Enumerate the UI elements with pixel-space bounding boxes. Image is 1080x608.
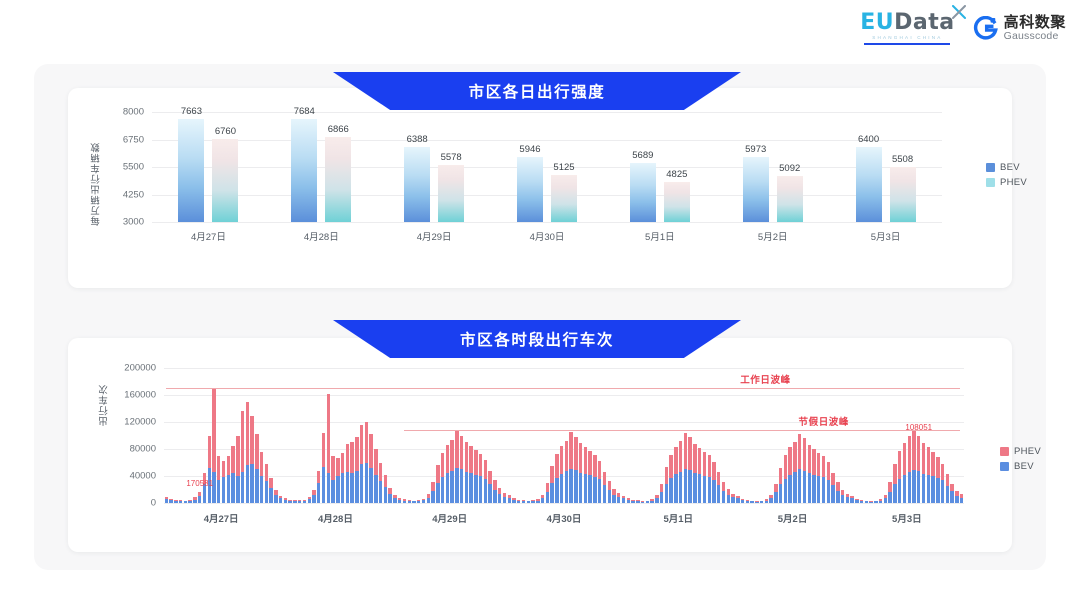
chart-2-stacked-bar xyxy=(241,411,244,503)
chart-2-segment-phev xyxy=(246,402,249,465)
chart-2-stacked-bar xyxy=(327,394,330,503)
chart-2-stacked-bar xyxy=(198,492,201,503)
chart-2-segment-phev xyxy=(898,451,901,479)
chart-2-segment-bev xyxy=(555,478,558,503)
chart-2-segment-bev xyxy=(169,500,172,503)
chart-2-x-tick: 4月30日 xyxy=(547,511,582,525)
chart-2-segment-phev xyxy=(827,462,830,480)
chart-2-segment-bev xyxy=(408,501,411,503)
chart-2-y-tick: 200000 xyxy=(124,363,156,374)
chart-2-segment-bev xyxy=(493,490,496,503)
chart-2-stacked-bar xyxy=(788,447,791,503)
chart-1-bar-phev xyxy=(551,175,577,222)
chart-2-stacked-bar xyxy=(179,500,182,503)
chart-2-x-tick: 5月3日 xyxy=(892,511,922,525)
chart-2-segment-bev xyxy=(679,472,682,503)
chart-2-segment-bev xyxy=(703,476,706,503)
chart-2-stacked-bar xyxy=(879,499,882,503)
chart-2-segment-bev xyxy=(708,477,711,503)
chart-2-segment-bev xyxy=(784,479,787,503)
chart-2-stacked-bar xyxy=(284,498,287,503)
chart-2-segment-bev xyxy=(331,480,334,503)
chart-1-bar-phev xyxy=(890,167,916,222)
chart-2-segment-phev xyxy=(584,447,587,474)
chart-2-stacked-bar xyxy=(236,436,239,504)
chart-2-stacked-bar xyxy=(384,475,387,503)
chart-2-stacked-bar xyxy=(874,501,877,503)
chart-2-stacked-bar xyxy=(246,402,249,503)
chart-2-segment-bev xyxy=(350,473,353,503)
chart-2-segment-phev xyxy=(941,464,944,480)
chart-2-segment-phev xyxy=(779,468,782,485)
chart-2-segment-bev xyxy=(465,472,468,503)
chart-2-stacked-bar xyxy=(546,483,549,503)
chart-2-stacked-bar xyxy=(927,447,930,503)
chart-1-x-tick: 5月2日 xyxy=(758,229,788,243)
chart-2-stacked-bar xyxy=(750,501,753,503)
legend-label: BEV xyxy=(1014,461,1034,472)
chart-2-segment-phev xyxy=(946,474,949,485)
chart-2-stacked-bar xyxy=(193,497,196,503)
chart-2-stacked-bar xyxy=(388,487,391,503)
chart-2-stacked-bar xyxy=(298,500,301,503)
chart-2-stacked-bar xyxy=(460,436,463,504)
chart-2-segment-phev xyxy=(488,471,491,484)
chart-2-segment-bev xyxy=(741,500,744,503)
chart-2-segment-bev xyxy=(603,485,606,503)
chart-2-segment-phev xyxy=(936,457,939,477)
chart-2-segment-bev xyxy=(288,501,291,503)
chart-2-stacked-bar xyxy=(398,498,401,503)
chart-2-segment-bev xyxy=(422,500,425,503)
chart-2-segment-phev xyxy=(579,443,582,472)
chart-2-segment-bev xyxy=(560,474,563,503)
chart-2-segment-bev xyxy=(403,501,406,503)
chart-2-stacked-bar xyxy=(512,498,515,503)
chart-2-segment-bev xyxy=(955,496,958,503)
chart-2-segment-bev xyxy=(727,495,730,503)
legend-label: PHEV xyxy=(1014,446,1041,457)
chart-2-segment-phev xyxy=(798,434,801,469)
chart-2-segment-phev xyxy=(431,482,434,491)
gausscode-logo-text: 高科数聚 Gausscode xyxy=(1004,15,1066,42)
chart-2-segment-bev xyxy=(617,497,620,503)
chart-2-stacked-bar xyxy=(893,464,896,503)
chart-2-segment-phev xyxy=(560,446,563,474)
chart-2-stacked-bar xyxy=(922,443,925,503)
chart-1-y-tick: 4250 xyxy=(123,189,144,200)
chart-2-segment-bev xyxy=(884,498,887,503)
chart-2-segment-phev xyxy=(784,455,787,478)
chart-2-stacked-bar xyxy=(593,455,596,503)
chart-2-y-tick: 160000 xyxy=(124,390,156,401)
chart-2-segment-phev xyxy=(546,483,549,491)
chart-1-bar-phev xyxy=(777,176,803,222)
chart-2-stacked-bar xyxy=(322,433,325,503)
chart-2-segment-bev xyxy=(446,473,449,503)
chart-2-stacked-bar xyxy=(741,498,744,503)
chart-2-segment-bev xyxy=(588,475,591,503)
chart-2-segment-bev xyxy=(946,486,949,503)
chart-2-stacked-bar xyxy=(317,471,320,503)
chart-2-segment-bev xyxy=(317,483,320,503)
chart-1-gridline xyxy=(152,167,942,168)
chart-2-segment-bev xyxy=(522,501,525,503)
chart-2-gridline xyxy=(164,503,964,504)
chart-2-stacked-bar xyxy=(222,461,225,503)
chart-2-stacked-bar xyxy=(488,471,491,503)
chart-2-segment-bev xyxy=(474,475,477,503)
chart-2-segment-bev xyxy=(879,501,882,503)
chart-1-bar-value: 4825 xyxy=(666,169,687,180)
chart-1-bar-value: 5125 xyxy=(553,162,574,173)
chart-1-bar-value: 7684 xyxy=(294,106,315,117)
chart-2-stacked-bar xyxy=(598,461,601,503)
chart-2-segment-phev xyxy=(912,430,915,470)
chart-2-stacked-bar xyxy=(588,451,591,503)
chart-2-segment-bev xyxy=(660,492,663,503)
chart-2-stacked-bar xyxy=(712,462,715,504)
chart-2-segment-bev xyxy=(655,498,658,503)
chart-2-stacked-bar xyxy=(227,456,230,503)
legend-item-phev: PHEV xyxy=(1000,446,1041,457)
chart-2-peak-value: 108051 xyxy=(905,423,932,432)
chart-1-bar-value: 6866 xyxy=(328,124,349,135)
chart-2-segment-phev xyxy=(708,455,711,477)
chart-2-stacked-bar xyxy=(417,500,420,503)
chart-2-segment-phev xyxy=(350,442,353,473)
chart-2-segment-bev xyxy=(841,495,844,503)
chart-2-segment-bev xyxy=(803,471,806,503)
chart-2-stacked-bar xyxy=(793,442,796,503)
chart-2-segment-phev xyxy=(679,441,682,471)
chart-2-segment-bev xyxy=(593,477,596,503)
chart-1-x-tick: 5月1日 xyxy=(645,229,675,243)
chart-1-x-tick: 4月27日 xyxy=(191,229,226,243)
chart-2-gridline xyxy=(164,395,964,396)
chart-2-annotation-label: 工作日波峰 xyxy=(740,372,791,386)
chart-2-stacked-bar xyxy=(498,488,501,503)
chart-2-stacked-bar xyxy=(665,467,668,503)
chart-2-annotation-line xyxy=(404,430,960,431)
chart-2-segment-phev xyxy=(555,454,558,478)
evdata-logo-wordmark: EUData xyxy=(860,12,954,34)
legend-label: BEV xyxy=(1000,162,1020,173)
chart-2-stacked-bar xyxy=(465,442,468,503)
chart-2-segment-bev xyxy=(484,479,487,503)
chart-2-stacked-bar xyxy=(308,497,311,503)
chart-1-x-tick: 4月30日 xyxy=(530,229,565,243)
chart-2-stacked-bar xyxy=(560,446,563,503)
chart-2-stacked-bar xyxy=(803,438,806,503)
chart-2-segment-bev xyxy=(688,470,691,503)
chart-2-segment-phev xyxy=(603,472,606,485)
chart-2-stacked-bar xyxy=(646,501,649,503)
chart-2-segment-bev xyxy=(779,484,782,503)
chart-2-segment-phev xyxy=(717,472,720,485)
chart-2-segment-phev xyxy=(369,434,372,468)
chart-1-card: 每万辆出行车辆数30004250550067508000766367604月27… xyxy=(68,88,1012,288)
evdata-logo-data: Data xyxy=(894,10,954,35)
chart-2-title-ribbon: 市区各时段出行车次 xyxy=(333,320,741,358)
chart-2-segment-bev xyxy=(460,469,463,503)
chart-2-segment-bev xyxy=(255,469,258,503)
chart-2-segment-phev xyxy=(712,462,715,480)
chart-2-segment-bev xyxy=(598,479,601,503)
chart-1-gridline xyxy=(152,195,942,196)
chart-2-segment-bev xyxy=(674,474,677,503)
chart-2-stacked-bar xyxy=(431,482,434,503)
chart-2-segment-phev xyxy=(236,436,239,477)
legend-item-bev: BEV xyxy=(1000,461,1041,472)
chart-2-stacked-bar xyxy=(960,494,963,503)
chart-2-stacked-bar xyxy=(541,495,544,503)
chart-2-stacked-bar xyxy=(917,436,920,503)
chart-2-segment-phev xyxy=(269,478,272,488)
dashboard-page: EUData SHANGHAI CHINA 高科数聚 Gausscode 市区各… xyxy=(0,0,1080,608)
chart-2-segment-phev xyxy=(217,456,220,480)
chart-2-segment-phev xyxy=(922,443,925,474)
chart-2-segment-phev xyxy=(460,436,463,470)
chart-2-segment-bev xyxy=(388,494,391,503)
chart-1-bar-value: 5578 xyxy=(441,152,462,163)
chart-2-segment-phev xyxy=(336,458,339,476)
chart-2-segment-bev xyxy=(379,481,382,503)
chart-2-segment-phev xyxy=(384,475,387,486)
chart-2-stacked-bar xyxy=(408,500,411,503)
chart-2-segment-bev xyxy=(231,473,234,503)
chart-2-segment-phev xyxy=(927,447,930,475)
chart-2-stacked-bar xyxy=(474,450,477,503)
chart-2-segment-bev xyxy=(717,485,720,503)
chart-1-title-ribbon: 市区各日出行强度 xyxy=(333,72,741,110)
chart-2-stacked-bar xyxy=(184,501,187,503)
chart-2-segment-bev xyxy=(936,478,939,503)
chart-1-y-tick: 3000 xyxy=(123,217,144,228)
chart-2-segment-bev xyxy=(798,469,801,503)
chart-2-segment-bev xyxy=(812,475,815,503)
chart-2-segment-phev xyxy=(260,452,263,476)
chart-2-stacked-bar xyxy=(908,436,911,503)
chart-2-stacked-bar xyxy=(484,460,487,503)
chart-2-segment-bev xyxy=(960,498,963,503)
chart-2-stacked-bar xyxy=(441,453,444,503)
chart-2-segment-bev xyxy=(236,476,239,503)
chart-2-stacked-bar xyxy=(350,442,353,503)
chart-2-stacked-bar xyxy=(231,446,234,503)
chart-2-segment-bev xyxy=(246,465,249,503)
chart-2-gridline xyxy=(164,368,964,369)
chart-2-stacked-bar xyxy=(255,434,258,503)
chart-2-stacked-bar xyxy=(603,472,606,503)
chart-2-stacked-bar xyxy=(822,456,825,503)
chart-2-stacked-bar xyxy=(669,455,672,503)
chart-2-stacked-bar xyxy=(303,500,306,503)
chart-2-stacked-bar xyxy=(531,500,534,503)
chart-2-stacked-bar xyxy=(708,455,711,503)
gausscode-logo-en: Gausscode xyxy=(1004,31,1066,42)
chart-2-stacked-bar xyxy=(455,431,458,503)
chart-2-segment-bev xyxy=(198,496,201,503)
chart-1-bar-phev xyxy=(212,139,238,222)
chart-2-segment-bev xyxy=(760,501,763,503)
chart-2-stacked-bar xyxy=(169,499,172,503)
chart-2-stacked-bar xyxy=(293,500,296,503)
chart-1-bar-value: 5508 xyxy=(892,154,913,165)
chart-2-segment-phev xyxy=(588,451,591,475)
chart-2-segment-phev xyxy=(379,463,382,481)
chart-2-segment-bev xyxy=(322,467,325,503)
chart-2-stacked-bar xyxy=(746,500,749,503)
chart-2-segment-bev xyxy=(298,501,301,503)
chart-2-stacked-bar xyxy=(622,496,625,503)
chart-2-segment-bev xyxy=(693,473,696,503)
chart-2-segment-bev xyxy=(793,472,796,503)
chart-2-stacked-bar xyxy=(269,478,272,503)
chart-2-segment-bev xyxy=(927,475,930,503)
chart-2-stacked-bar xyxy=(617,493,620,503)
chart-2-segment-phev xyxy=(593,455,596,477)
chart-2-stacked-bar xyxy=(950,484,953,503)
chart-2-segment-bev xyxy=(579,473,582,503)
chart-2-segment-phev xyxy=(903,443,906,475)
chart-2-segment-phev xyxy=(208,436,211,468)
legend-swatch xyxy=(986,178,995,187)
chart-2-stacked-bar xyxy=(346,444,349,503)
chart-2-stacked-bar xyxy=(884,495,887,503)
chart-1-bar-value: 5092 xyxy=(779,163,800,174)
chart-2-segment-phev xyxy=(788,447,791,474)
chart-2-segment-phev xyxy=(360,425,363,463)
chart-2-stacked-bar xyxy=(631,500,634,503)
chart-2-annotation-line xyxy=(166,388,960,389)
chart-2-segment-phev xyxy=(479,454,482,476)
chart-2-segment-phev xyxy=(812,449,815,475)
chart-2-segment-bev xyxy=(436,483,439,503)
chart-2-segment-phev xyxy=(722,482,725,491)
chart-2-stacked-bar xyxy=(731,494,734,503)
chart-2-segment-bev xyxy=(241,472,244,503)
chart-1-plot: 每万辆出行车辆数30004250550067508000766367604月27… xyxy=(152,112,942,222)
chart-2-segment-bev xyxy=(869,502,872,503)
chart-2-segment-phev xyxy=(255,434,258,469)
chart-2-stacked-bar xyxy=(812,449,815,503)
chart-1-legend: BEVPHEV xyxy=(986,162,1027,188)
chart-2-segment-bev xyxy=(265,481,268,503)
chart-1-bar-bev xyxy=(743,157,769,222)
chart-2-stacked-bar xyxy=(736,496,739,503)
chart-2-stacked-bar xyxy=(698,448,701,503)
chart-2-segment-phev xyxy=(693,444,696,473)
chart-2-segment-bev xyxy=(746,501,749,503)
chart-2-segment-phev xyxy=(817,453,820,476)
chart-2-x-tick: 4月29日 xyxy=(432,511,467,525)
chart-2-stacked-bar xyxy=(522,500,525,503)
chart-2-stacked-bar xyxy=(941,464,944,503)
chart-2-segment-bev xyxy=(627,500,630,503)
chart-2-segment-phev xyxy=(698,448,701,474)
chart-2-segment-phev xyxy=(822,456,825,477)
chart-2-segment-bev xyxy=(274,495,277,503)
chart-1-x-tick: 4月29日 xyxy=(417,229,452,243)
chart-2-y-tick: 80000 xyxy=(130,444,156,455)
chart-2-segment-bev xyxy=(279,498,282,503)
chart-2-segment-bev xyxy=(431,491,434,503)
chart-2-segment-bev xyxy=(650,501,653,503)
chart-2-stacked-bar xyxy=(403,499,406,503)
chart-2-stacked-bar xyxy=(760,501,763,503)
chart-1-bar-bev xyxy=(291,119,317,222)
chart-2-segment-phev xyxy=(808,445,811,474)
chart-2-segment-phev xyxy=(365,422,368,463)
chart-2-segment-phev xyxy=(265,464,268,482)
chart-2-stacked-bar xyxy=(341,453,344,503)
chart-2-stacked-bar xyxy=(774,484,777,503)
chart-2-segment-phev xyxy=(222,461,225,477)
chart-2-segment-bev xyxy=(365,463,368,504)
chart-2-stacked-bar xyxy=(850,496,853,503)
chart-2-segment-bev xyxy=(517,501,520,503)
chart-2-segment-bev xyxy=(469,473,472,503)
chart-2-segment-bev xyxy=(855,500,858,503)
chart-2-segment-phev xyxy=(669,455,672,479)
chart-2-segment-bev xyxy=(222,477,225,503)
chart-2-segment-bev xyxy=(836,491,839,503)
chart-2-segment-bev xyxy=(312,495,315,503)
chart-2-stacked-bar xyxy=(422,499,425,503)
chart-2-peak-value: 170581 xyxy=(186,479,213,488)
chart-2-segment-bev xyxy=(188,501,191,503)
chart-2-stacked-bar xyxy=(860,500,863,503)
chart-2-segment-bev xyxy=(931,476,934,503)
chart-2-segment-phev xyxy=(331,456,334,480)
chart-2-segment-bev xyxy=(536,501,539,503)
chart-2-stacked-bar xyxy=(379,463,382,504)
evdata-logo-rule xyxy=(864,43,950,45)
chart-2-stacked-bar xyxy=(717,472,720,503)
chart-2-stacked-bar xyxy=(827,462,830,503)
chart-2-segment-phev xyxy=(574,437,577,470)
chart-2-segment-phev xyxy=(341,453,344,473)
chart-2-segment-bev xyxy=(512,500,515,503)
chart-2-segment-phev xyxy=(608,481,611,490)
chart-2-segment-bev xyxy=(736,498,739,503)
chart-2-segment-bev xyxy=(608,490,611,503)
chart-1-x-tick: 4月28日 xyxy=(304,229,339,243)
chart-2-segment-phev xyxy=(598,461,601,480)
chart-2-segment-bev xyxy=(327,473,330,503)
chart-2-segment-phev xyxy=(803,438,806,471)
chart-1-y-tick: 5500 xyxy=(123,162,144,173)
chart-2-segment-phev xyxy=(231,446,234,473)
chart-2-segment-phev xyxy=(893,464,896,485)
chart-2-segment-bev xyxy=(712,480,715,503)
chart-2-segment-bev xyxy=(903,475,906,503)
chart-2-segment-bev xyxy=(488,484,491,503)
chart-2-segment-phev xyxy=(550,466,553,483)
chart-2-stacked-bar xyxy=(612,489,615,503)
chart-2-segment-bev xyxy=(531,501,534,503)
chart-2-segment-bev xyxy=(888,492,891,503)
chart-1-bar-phev xyxy=(438,165,464,222)
chart-2-segment-bev xyxy=(479,476,482,503)
chart-2-segment-bev xyxy=(227,475,230,503)
chart-2-segment-phev xyxy=(455,431,458,467)
chart-2-stacked-bar xyxy=(855,499,858,503)
chart-2-stacked-bar xyxy=(469,446,472,503)
chart-2-stacked-bar xyxy=(722,482,725,503)
chart-1-y-axis-label: 每万辆出行车辆数 xyxy=(90,108,104,226)
